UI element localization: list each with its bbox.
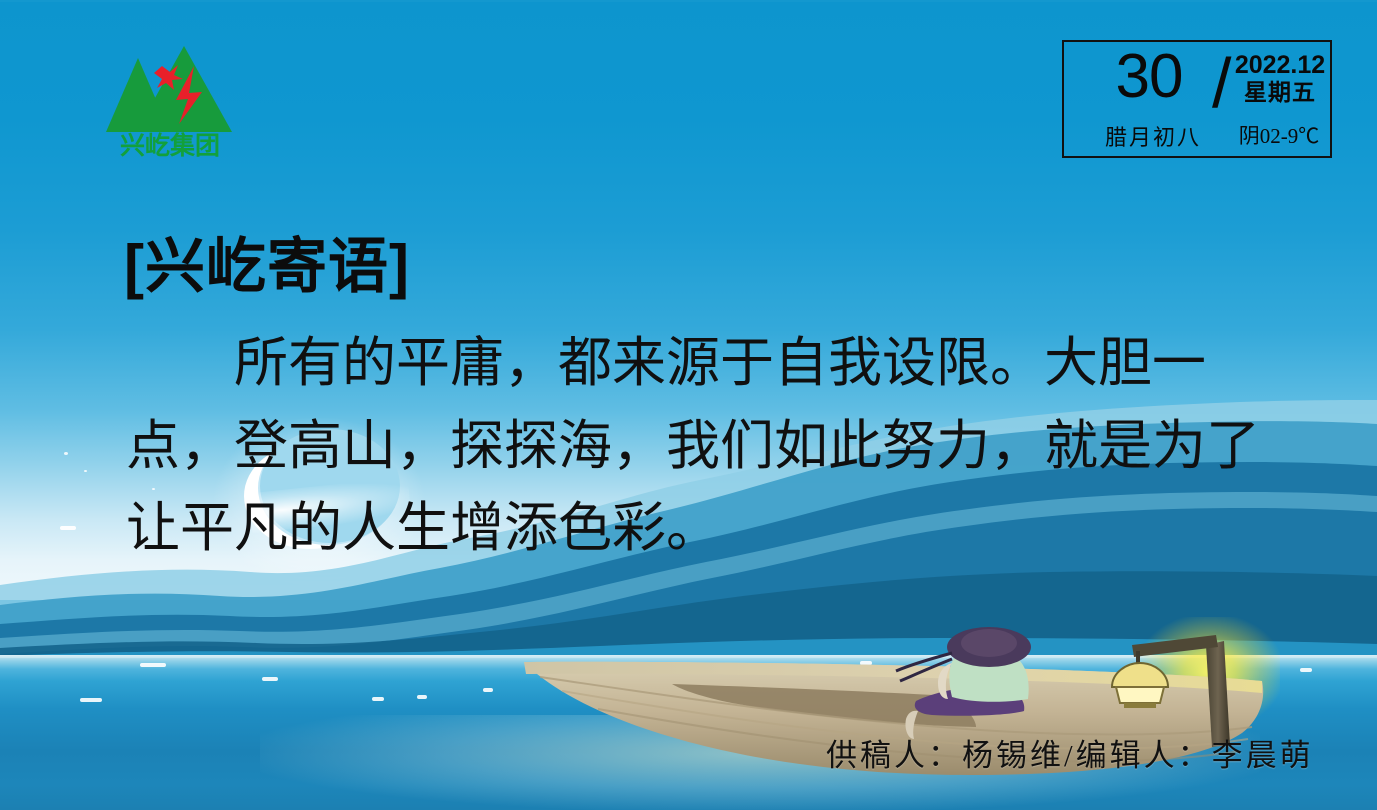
water-glint: [417, 695, 427, 699]
quote-body: 所有的平庸，都来源于自我设限。大胆一点，登高山，探探海，我们如此努力，就是为了让…: [126, 322, 1286, 570]
lantern-base: [1124, 703, 1156, 708]
water-glint: [483, 688, 493, 692]
date-weather: 阴02-9℃: [1224, 120, 1334, 150]
water-glint: [80, 698, 102, 702]
person-hat-crown: [961, 629, 1017, 657]
page-title: [兴屹寄语]: [124, 218, 410, 305]
lantern-body: [1116, 687, 1164, 703]
date-card: 30 / 2022.12 星期五 腊月初八 阴02-9℃: [1062, 40, 1332, 158]
fishing-boat: [500, 615, 1290, 810]
date-day-group: 30: [1074, 46, 1224, 108]
poster-canvas: 兴屹集团 30 / 2022.12 星期五 腊月初八 阴02-9℃ [兴屹寄语]…: [0, 0, 1377, 810]
water-glint: [372, 697, 384, 701]
xingyi-group-logo: 兴屹集团: [100, 40, 240, 162]
logo-text: 兴屹集团: [120, 131, 220, 160]
date-slash: /: [1212, 48, 1231, 118]
credit-line: 供稿人：杨锡维/编辑人：李晨萌: [826, 730, 1314, 775]
water-glint: [262, 677, 278, 681]
lantern-shade: [1112, 663, 1168, 687]
lantern-arm: [1132, 635, 1218, 657]
date-lunar: 腊月初八: [1080, 120, 1226, 152]
water-glint: [1300, 668, 1312, 672]
date-year-month: 2022.12: [1232, 52, 1328, 80]
date-weekday: 星期五: [1232, 80, 1328, 105]
date-day: 30: [1074, 46, 1224, 108]
water-glint: [140, 663, 166, 667]
